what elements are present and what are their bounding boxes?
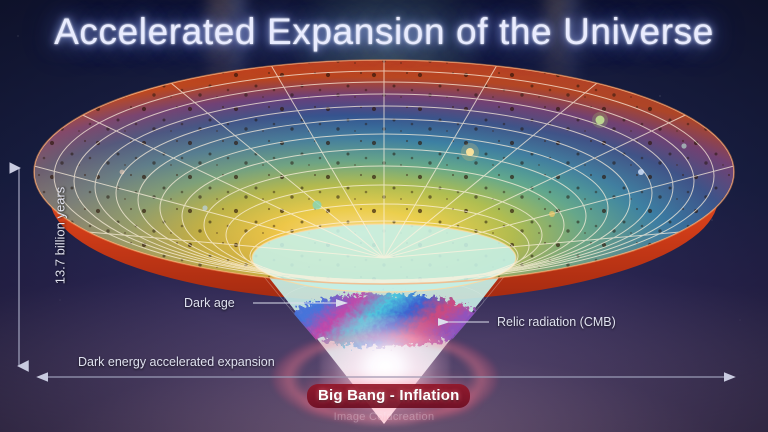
figure-canvas: Accelerated Expansion of the Universe	[0, 0, 768, 432]
figure-title: Accelerated Expansion of the Universe	[0, 11, 768, 53]
cmb-band	[288, 293, 480, 347]
annotation-dark-age: Dark age	[184, 296, 235, 310]
big-bang-callout: Big Bang - Inflation	[307, 384, 470, 408]
horizontal-axis-label: Dark energy accelerated expansion	[78, 355, 275, 369]
image-credit: Image Coldcreation	[0, 411, 768, 423]
vertical-axis-label: 13.7 billion years	[53, 156, 68, 316]
annotation-relic-radiation: Relic radiation (CMB)	[497, 315, 616, 329]
